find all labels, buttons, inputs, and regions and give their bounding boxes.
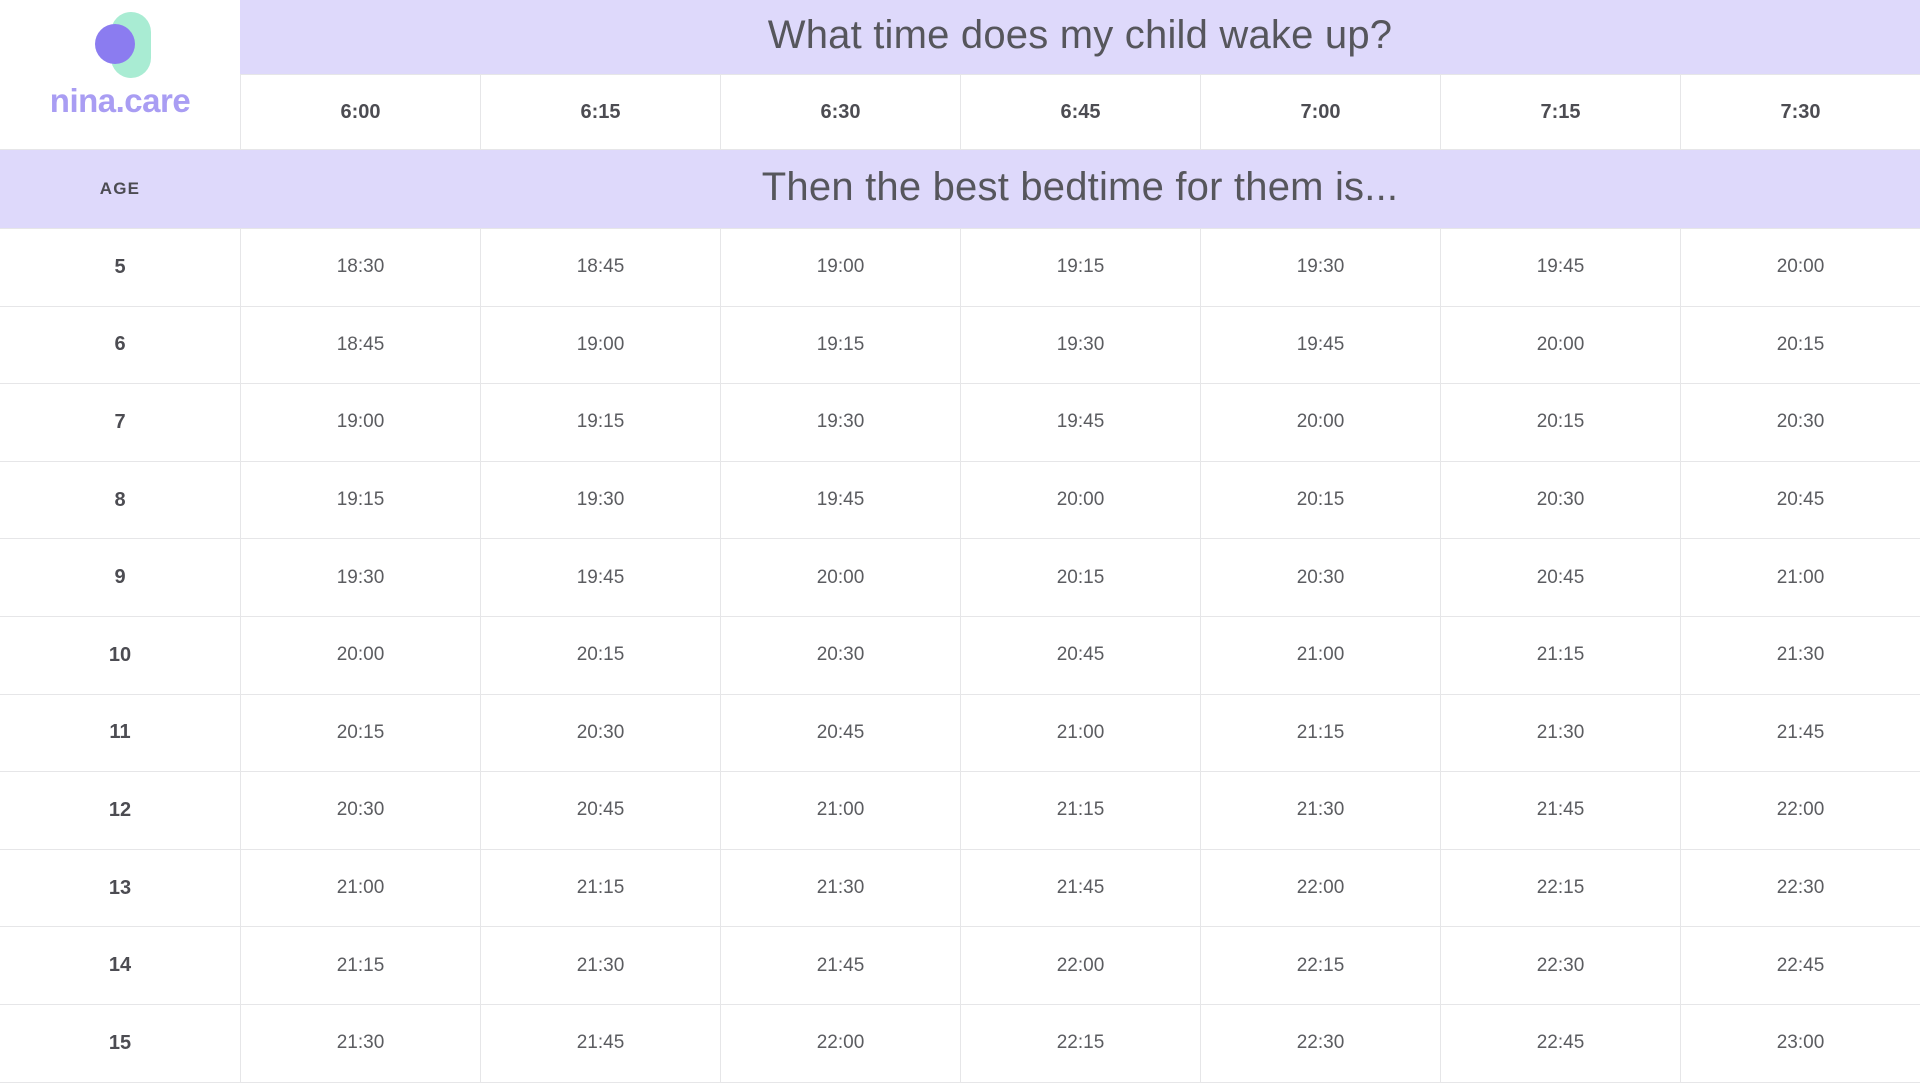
bedtime-cell: 18:45 <box>480 229 720 306</box>
table-row: 8 19:15 19:30 19:45 20:00 20:15 20:30 20… <box>0 462 1920 540</box>
row-age: 9 <box>0 539 240 616</box>
bedtime-cell: 19:15 <box>240 462 480 539</box>
bedtime-cell: 19:00 <box>720 229 960 306</box>
row-age: 7 <box>0 384 240 461</box>
row-age: 13 <box>0 850 240 927</box>
bedtime-cell: 21:15 <box>480 850 720 927</box>
row-age: 12 <box>0 772 240 849</box>
bedtime-cell: 20:00 <box>1680 229 1920 306</box>
bedtime-cell: 21:00 <box>1680 539 1920 616</box>
table-row: 12 20:30 20:45 21:00 21:15 21:30 21:45 2… <box>0 772 1920 850</box>
bedtime-cell: 19:45 <box>480 539 720 616</box>
wake-time-header-2: 6:30 <box>720 75 960 149</box>
wake-time-header-1: 6:15 <box>480 75 720 149</box>
bedtime-cell: 19:00 <box>240 384 480 461</box>
bedtime-cell: 22:45 <box>1440 1005 1680 1082</box>
bedtime-cell: 21:15 <box>960 772 1200 849</box>
table-row: 6 18:45 19:00 19:15 19:30 19:45 20:00 20… <box>0 307 1920 385</box>
table-row: 11 20:15 20:30 20:45 21:00 21:15 21:30 2… <box>0 695 1920 773</box>
table-row: 15 21:30 21:45 22:00 22:15 22:30 22:45 2… <box>0 1005 1920 1083</box>
bedtime-cell: 19:45 <box>720 462 960 539</box>
bedtime-cell: 19:00 <box>480 307 720 384</box>
bedtime-cell: 19:45 <box>1200 307 1440 384</box>
bedtime-cell: 20:45 <box>1440 539 1680 616</box>
bedtime-cell: 19:30 <box>1200 229 1440 306</box>
bedtime-cell: 20:45 <box>960 617 1200 694</box>
bedtime-cell: 20:45 <box>1680 462 1920 539</box>
bedtime-cell: 20:00 <box>1200 384 1440 461</box>
wake-time-header-5: 7:15 <box>1440 75 1680 149</box>
wake-time-header-0: 6:00 <box>240 75 480 149</box>
bedtime-cell: 20:15 <box>480 617 720 694</box>
bedtime-cell: 22:15 <box>1440 850 1680 927</box>
brand-name: nina.care <box>50 82 190 120</box>
bedtime-cell: 19:15 <box>480 384 720 461</box>
wake-time-header-row: 6:00 6:15 6:30 6:45 7:00 7:15 7:30 <box>0 74 1920 150</box>
row-age: 14 <box>0 927 240 1004</box>
question-band: What time does my child wake up? <box>0 0 1920 74</box>
bedtime-cell: 19:45 <box>960 384 1200 461</box>
table-row: 7 19:00 19:15 19:30 19:45 20:00 20:15 20… <box>0 384 1920 462</box>
bedtime-cell: 21:30 <box>1200 772 1440 849</box>
table-row: 5 18:30 18:45 19:00 19:15 19:30 19:45 20… <box>0 229 1920 307</box>
bedtime-cell: 19:30 <box>720 384 960 461</box>
bedtime-cell: 22:00 <box>1200 850 1440 927</box>
bedtime-cell: 21:45 <box>720 927 960 1004</box>
bedtime-cell: 21:00 <box>240 850 480 927</box>
bedtime-cell: 21:30 <box>1440 695 1680 772</box>
bedtime-cell: 21:00 <box>960 695 1200 772</box>
bedtime-cell: 19:45 <box>1440 229 1680 306</box>
bedtime-cell: 21:30 <box>240 1005 480 1082</box>
bedtime-cell: 21:30 <box>480 927 720 1004</box>
bedtime-cell: 20:00 <box>1440 307 1680 384</box>
bedtime-cell: 20:15 <box>240 695 480 772</box>
bedtime-cell: 21:00 <box>720 772 960 849</box>
table-row: 13 21:00 21:15 21:30 21:45 22:00 22:15 2… <box>0 850 1920 928</box>
wake-time-header-4: 7:00 <box>1200 75 1440 149</box>
bedtime-cell: 19:30 <box>240 539 480 616</box>
bedtime-cell: 22:30 <box>1200 1005 1440 1082</box>
bedtime-cell: 19:15 <box>960 229 1200 306</box>
bedtime-chart: nina.care What time does my child wake u… <box>0 0 1920 1074</box>
bedtime-cell: 21:15 <box>240 927 480 1004</box>
row-age: 15 <box>0 1005 240 1082</box>
bedtime-cell: 19:30 <box>960 307 1200 384</box>
wake-time-header-6: 7:30 <box>1680 75 1920 149</box>
bedtime-cell: 20:30 <box>240 772 480 849</box>
bedtime-cell: 20:00 <box>720 539 960 616</box>
nina-care-logo-icon <box>89 12 151 78</box>
bedtime-cell: 20:00 <box>960 462 1200 539</box>
bedtime-cell: 22:00 <box>720 1005 960 1082</box>
bedtime-banner-row: AGE Then the best bedtime for them is... <box>0 150 1920 229</box>
bedtime-cell: 20:30 <box>720 617 960 694</box>
bedtime-cell: 20:15 <box>960 539 1200 616</box>
bedtime-banner-text: Then the best bedtime for them is... <box>240 150 1920 228</box>
brand-logo: nina.care <box>0 0 240 148</box>
row-age: 10 <box>0 617 240 694</box>
bedtime-cell: 19:30 <box>480 462 720 539</box>
bedtime-cell: 21:00 <box>1200 617 1440 694</box>
row-age: 11 <box>0 695 240 772</box>
bedtime-cell: 22:30 <box>1680 850 1920 927</box>
bedtime-cell: 23:00 <box>1680 1005 1920 1082</box>
table-row: 10 20:00 20:15 20:30 20:45 21:00 21:15 2… <box>0 617 1920 695</box>
bedtime-cell: 19:15 <box>720 307 960 384</box>
bedtime-cell: 20:00 <box>240 617 480 694</box>
bedtime-cell: 22:00 <box>1680 772 1920 849</box>
table-row: 9 19:30 19:45 20:00 20:15 20:30 20:45 21… <box>0 539 1920 617</box>
bedtime-cell: 22:15 <box>960 1005 1200 1082</box>
bedtime-cell: 20:30 <box>480 695 720 772</box>
wake-time-header-3: 6:45 <box>960 75 1200 149</box>
question-cell: What time does my child wake up? <box>240 0 1920 74</box>
bedtime-cell: 20:45 <box>720 695 960 772</box>
bedtime-cell: 20:15 <box>1200 462 1440 539</box>
row-age: 5 <box>0 229 240 306</box>
bedtime-cell: 18:45 <box>240 307 480 384</box>
bedtime-cell: 20:30 <box>1680 384 1920 461</box>
bedtime-cell: 21:15 <box>1440 617 1680 694</box>
table-row: 14 21:15 21:30 21:45 22:00 22:15 22:30 2… <box>0 927 1920 1005</box>
row-age: 6 <box>0 307 240 384</box>
bedtime-cell: 21:45 <box>1680 695 1920 772</box>
row-age: 8 <box>0 462 240 539</box>
bedtime-cell: 20:15 <box>1440 384 1680 461</box>
bedtime-cell: 22:15 <box>1200 927 1440 1004</box>
bedtime-cell: 20:15 <box>1680 307 1920 384</box>
bedtime-cell: 18:30 <box>240 229 480 306</box>
question-title: What time does my child wake up? <box>768 15 1392 59</box>
bedtime-cell: 21:45 <box>1440 772 1680 849</box>
age-column-header: AGE <box>0 150 240 228</box>
bedtime-cell: 22:00 <box>960 927 1200 1004</box>
logo-circle-shape <box>95 24 135 64</box>
bedtime-cell: 21:30 <box>720 850 960 927</box>
bedtime-cell: 22:45 <box>1680 927 1920 1004</box>
bedtime-cell: 21:30 <box>1680 617 1920 694</box>
bedtime-cell: 20:30 <box>1440 462 1680 539</box>
bedtime-cell: 21:45 <box>480 1005 720 1082</box>
bedtime-cell: 20:45 <box>480 772 720 849</box>
bedtime-cell: 21:45 <box>960 850 1200 927</box>
bedtime-cell: 22:30 <box>1440 927 1680 1004</box>
bedtime-cell: 20:30 <box>1200 539 1440 616</box>
bedtime-cell: 21:15 <box>1200 695 1440 772</box>
